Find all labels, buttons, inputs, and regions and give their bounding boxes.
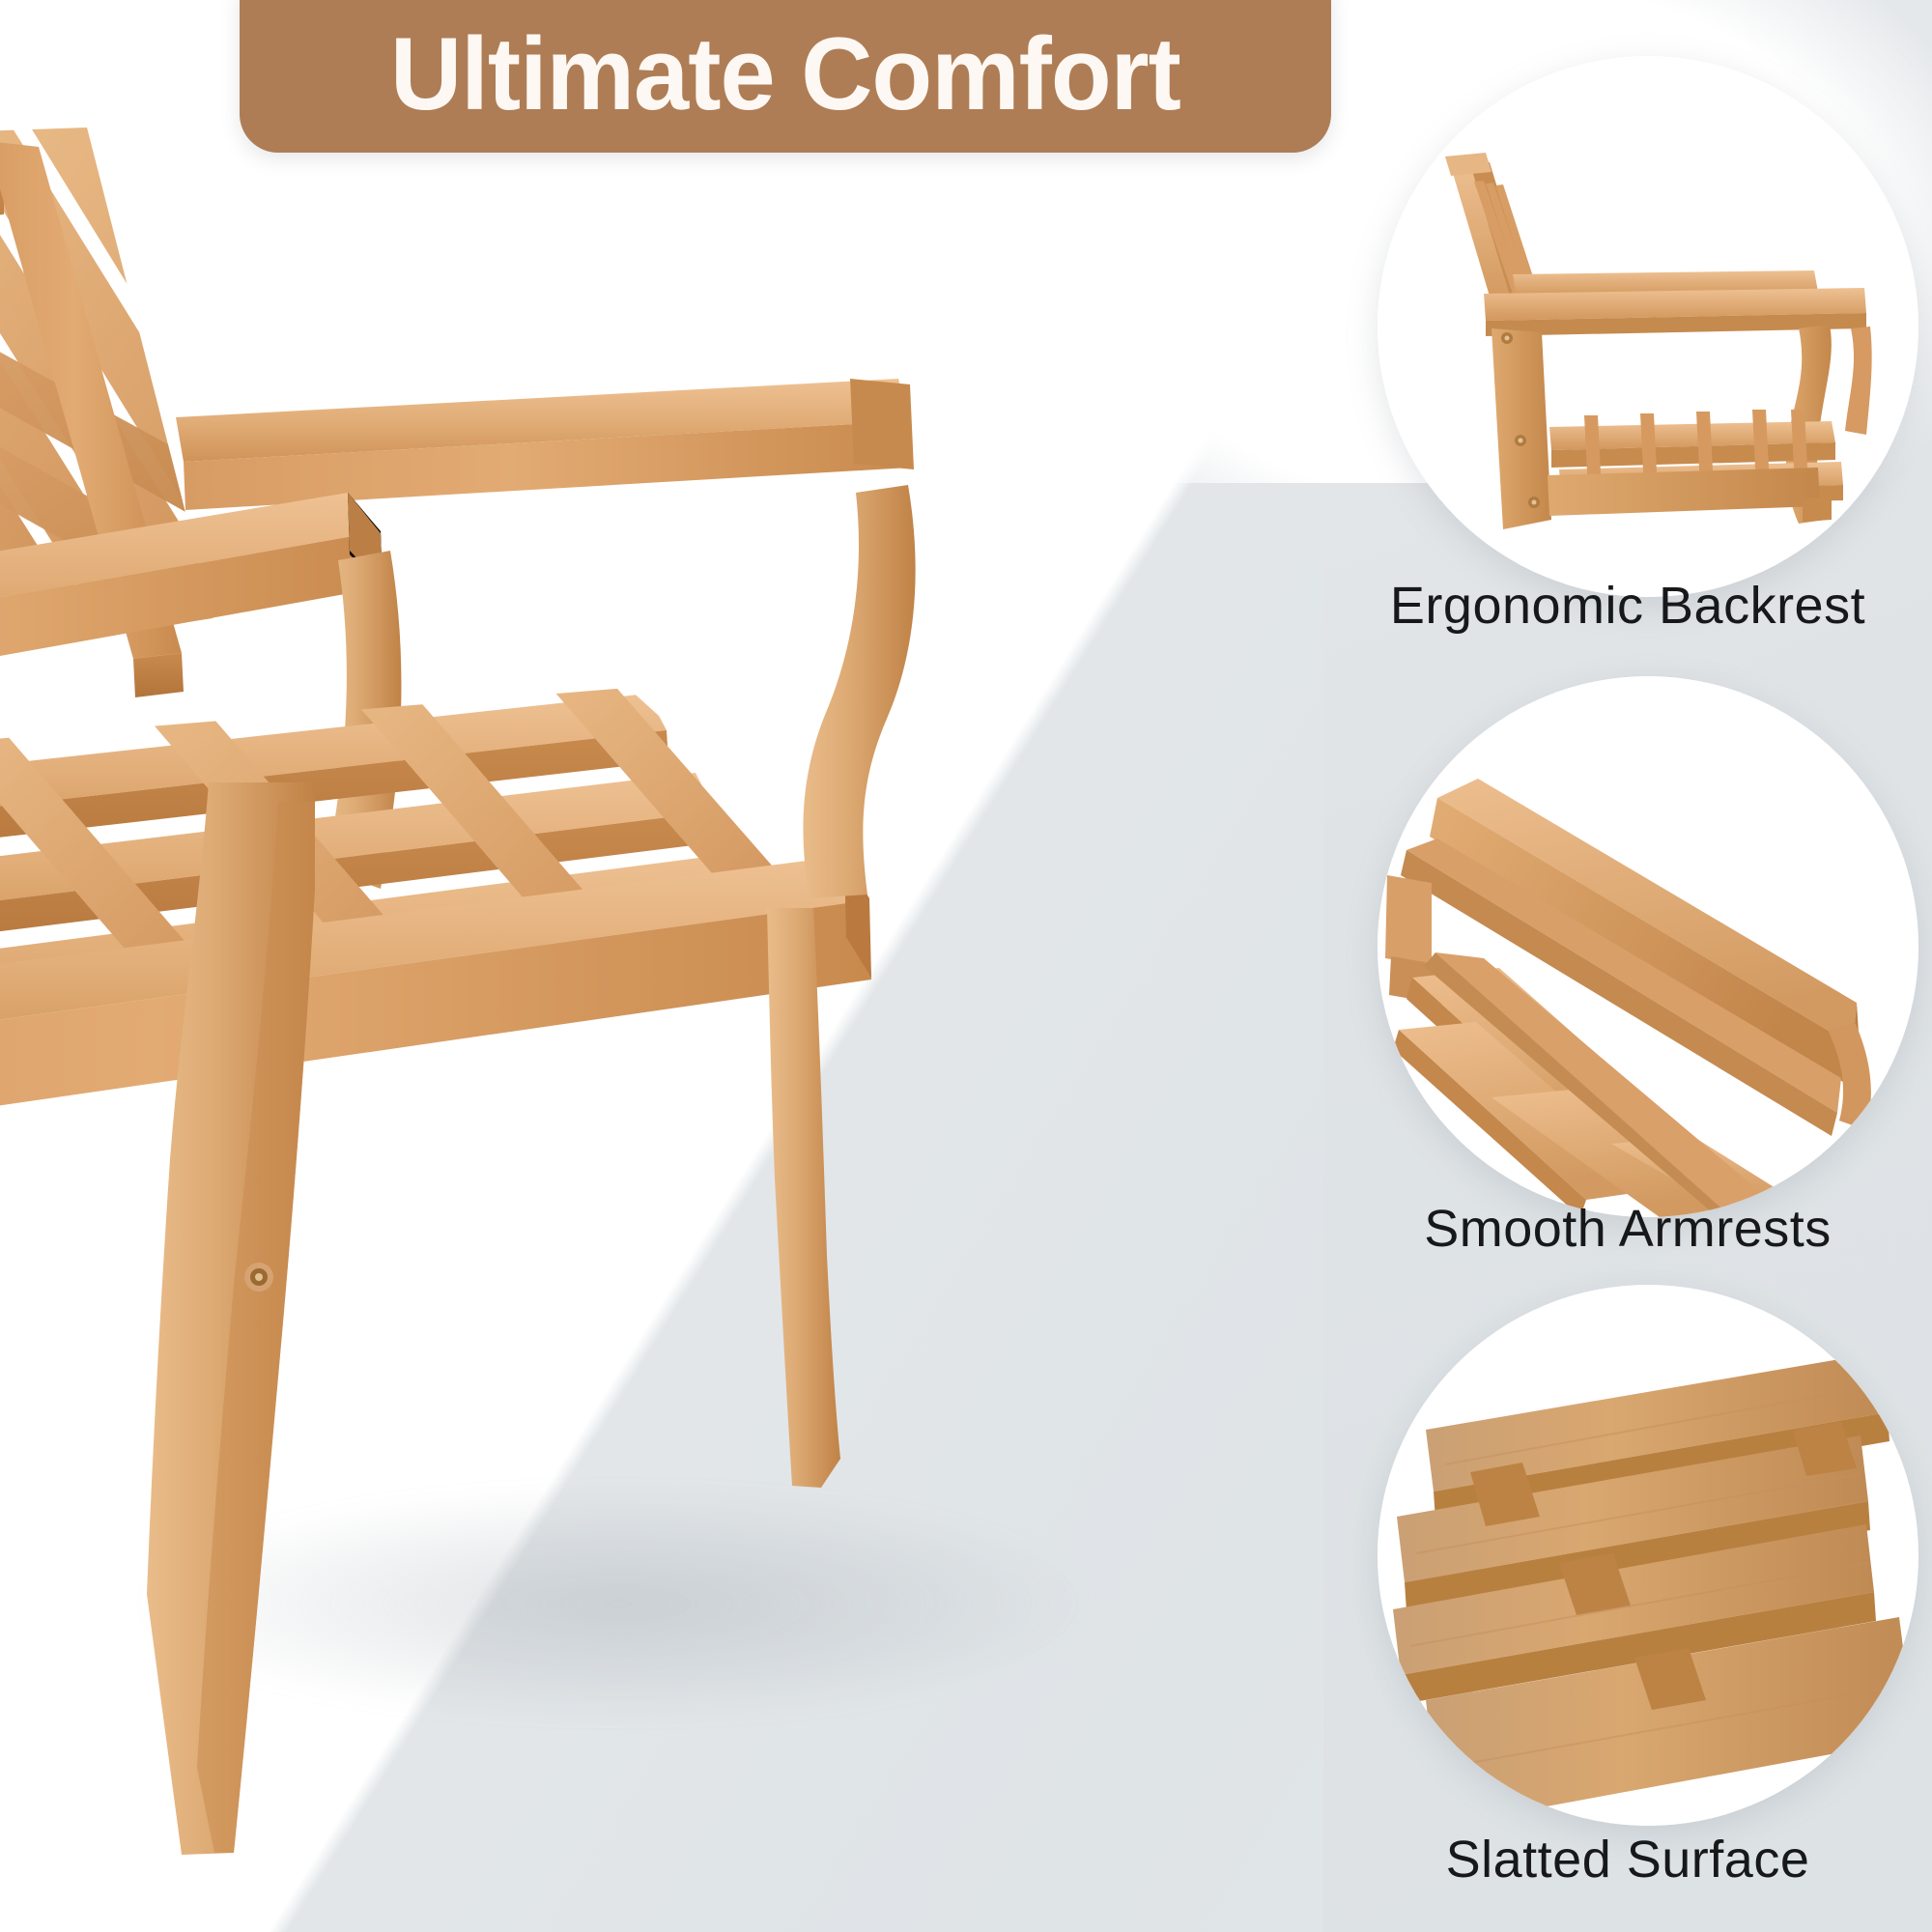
callout-image-slatted-surface <box>1378 1285 1918 1826</box>
page-title: Ultimate Comfort <box>390 14 1180 126</box>
product-feature-graphic: Ultimate Comfort <box>0 0 1932 1932</box>
hero-product-image <box>0 39 1111 1874</box>
right-arm-curve <box>803 485 915 898</box>
callout-label-ergonomic-backrest: Ergonomic Backrest <box>1323 580 1932 632</box>
callout-label-slatted-surface: Slatted Surface <box>1323 1833 1932 1886</box>
callout-label-smooth-armrests: Smooth Armrests <box>1323 1203 1932 1255</box>
armrest-right-end <box>850 379 914 469</box>
side-rail-upper <box>176 379 910 510</box>
rear-right-leg <box>767 908 840 1488</box>
callout-image-ergonomic-backrest <box>1378 56 1918 597</box>
callout-image-smooth-armrests <box>1378 676 1918 1217</box>
title-banner: Ultimate Comfort <box>240 0 1331 153</box>
